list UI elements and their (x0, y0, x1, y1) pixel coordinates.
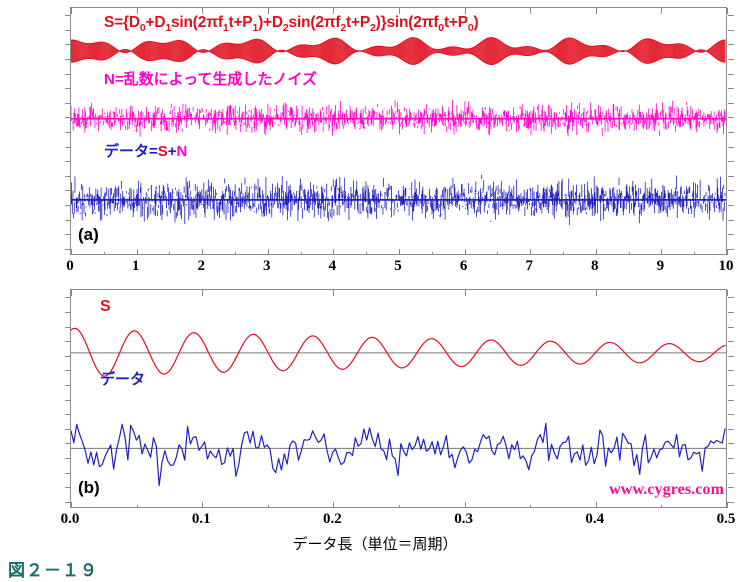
axis-tick (65, 370, 71, 371)
axis-tick-minor (629, 252, 630, 255)
x-tick-label: 0.2 (323, 511, 342, 528)
axis-tick (202, 290, 203, 296)
axis-tick (728, 59, 734, 60)
panel-b-signal-label: S (100, 298, 111, 316)
panel-a-noise-label: N=乱数によって生成したノイズ (104, 68, 317, 89)
axis-tick-minor (104, 252, 105, 255)
x-tick-label: 4 (329, 258, 337, 275)
axis-tick (65, 117, 71, 118)
axis-tick (65, 161, 71, 162)
axis-tick (65, 312, 71, 313)
axis-tick (65, 414, 71, 415)
panel-a-data-label-plus: + (168, 143, 177, 160)
axis-tick (65, 297, 71, 298)
axis-tick (65, 44, 71, 45)
axis-tick (728, 147, 734, 148)
x-tick-label: 0.1 (192, 511, 211, 528)
axis-tick (728, 429, 734, 430)
axis-tick (65, 487, 71, 488)
axis-tick (333, 502, 334, 508)
x-axis-title: データ長（単位＝周期） (0, 533, 750, 554)
axis-tick (728, 205, 734, 206)
axis-tick (728, 297, 734, 298)
axis-tick-minor (137, 505, 138, 508)
axis-tick (728, 190, 734, 191)
axis-tick (728, 161, 734, 162)
axis-tick (65, 234, 71, 235)
axis-tick (728, 327, 734, 328)
axis-tick (728, 88, 734, 89)
x-tick-label: 0.5 (717, 511, 736, 528)
panel-a-data-label-s: S (158, 143, 168, 160)
panel-b-data-label: データ (100, 368, 145, 389)
axis-tick (65, 400, 71, 401)
axis-tick (65, 458, 71, 459)
axis-tick (728, 400, 734, 401)
axis-tick (661, 249, 662, 255)
x-tick-label: 2 (197, 258, 205, 275)
axis-tick (596, 290, 597, 296)
axis-tick (728, 385, 734, 386)
axis-tick (65, 132, 71, 133)
axis-tick (399, 249, 400, 255)
axis-tick-minor (235, 252, 236, 255)
axis-tick (65, 30, 71, 31)
axis-tick (65, 429, 71, 430)
axis-tick (65, 205, 71, 206)
axis-tick (71, 502, 72, 508)
panel-a-signal-formula: S={D0+D1sin(2πf1t+P1)+D2sin(2πf2t+P2)}si… (104, 14, 479, 34)
panel-a-data-label: データ=S+N (104, 140, 187, 161)
axis-tick (728, 74, 734, 75)
axis-tick (65, 385, 71, 386)
x-tick-label: 5 (394, 258, 402, 275)
x-tick-label: 10 (719, 258, 734, 275)
panel-b-tag: (b) (78, 478, 100, 498)
axis-tick (530, 249, 531, 255)
axis-tick (333, 249, 334, 255)
axis-tick (65, 176, 71, 177)
axis-tick (65, 103, 71, 104)
axis-tick (268, 249, 269, 255)
axis-tick-minor (432, 252, 433, 255)
axis-tick (728, 502, 734, 503)
axis-tick (661, 8, 662, 14)
x-tick-label: 9 (657, 258, 665, 275)
axis-tick-minor (530, 505, 531, 508)
axis-tick (727, 290, 728, 296)
axis-tick (728, 117, 734, 118)
axis-tick-minor (497, 252, 498, 255)
axis-tick (333, 290, 334, 296)
axis-tick (202, 249, 203, 255)
axis-tick (728, 30, 734, 31)
axis-tick-minor (661, 505, 662, 508)
axis-tick (465, 249, 466, 255)
axis-tick (530, 8, 531, 14)
x-tick-label: 6 (460, 258, 468, 275)
x-tick-label: 1 (132, 258, 140, 275)
axis-tick (728, 44, 734, 45)
axis-tick (596, 249, 597, 255)
x-tick-label: 0 (66, 258, 74, 275)
axis-tick-minor (366, 252, 367, 255)
axis-tick (71, 249, 72, 255)
x-tick-label: 8 (591, 258, 599, 275)
panel-a-data-label-n: N (177, 143, 188, 160)
axis-tick (71, 8, 72, 14)
axis-tick (65, 190, 71, 191)
axis-tick (71, 290, 72, 296)
x-tick-label: 0.0 (61, 511, 80, 528)
panel-a-data-label-prefix: データ= (104, 143, 158, 160)
axis-tick (137, 249, 138, 255)
axis-tick (728, 312, 734, 313)
axis-tick (728, 414, 734, 415)
axis-tick (728, 443, 734, 444)
panel-b-traces (71, 290, 726, 507)
x-tick-label: 0.3 (454, 511, 473, 528)
panel-a-traces (71, 8, 726, 254)
axis-tick (728, 473, 734, 474)
axis-tick-minor (694, 252, 695, 255)
axis-tick-minor (301, 252, 302, 255)
panel-b-signal-trace (71, 328, 725, 376)
axis-tick-minor (563, 252, 564, 255)
x-tick-label: 0.4 (585, 511, 604, 528)
x-tick-label: 7 (525, 258, 533, 275)
axis-tick (65, 327, 71, 328)
axis-tick (727, 249, 728, 255)
axis-tick (728, 132, 734, 133)
axis-tick (728, 370, 734, 371)
axis-tick (728, 103, 734, 104)
axis-tick-minor (399, 505, 400, 508)
plot-panel-a (70, 7, 727, 255)
axis-tick (727, 502, 728, 508)
figure-caption: 図２－１９ (8, 556, 98, 581)
watermark-url: www.cygres.com (609, 481, 724, 499)
axis-tick (728, 341, 734, 342)
axis-tick (596, 502, 597, 508)
axis-tick (728, 220, 734, 221)
axis-tick (596, 8, 597, 14)
axis-tick (65, 88, 71, 89)
axis-tick (728, 487, 734, 488)
figure-2-19: S={D0+D1sin(2πf1t+P1)+D2sin(2πf2t+P2)}si… (0, 0, 750, 582)
axis-tick (65, 147, 71, 148)
axis-tick (728, 234, 734, 235)
axis-tick (728, 176, 734, 177)
axis-tick (65, 15, 71, 16)
axis-tick (728, 356, 734, 357)
axis-tick (65, 341, 71, 342)
axis-tick (465, 290, 466, 296)
axis-tick (65, 59, 71, 60)
axis-tick (202, 502, 203, 508)
axis-tick (465, 502, 466, 508)
axis-tick (728, 249, 734, 250)
panel-b-data-trace (71, 423, 725, 485)
x-tick-label: 3 (263, 258, 271, 275)
axis-tick (65, 473, 71, 474)
panel-a-tag: (a) (78, 225, 99, 245)
axis-tick (728, 458, 734, 459)
axis-tick (728, 15, 734, 16)
plot-panel-b (70, 289, 727, 508)
axis-tick (65, 443, 71, 444)
axis-tick (65, 220, 71, 221)
axis-tick (727, 8, 728, 14)
axis-tick-minor (169, 252, 170, 255)
axis-tick (65, 356, 71, 357)
axis-tick-minor (268, 505, 269, 508)
axis-tick (65, 74, 71, 75)
